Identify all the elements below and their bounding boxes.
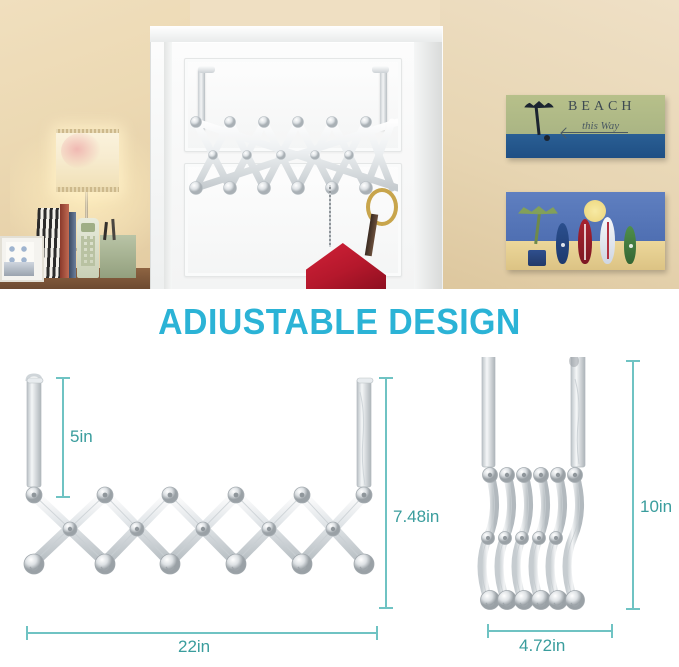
wall-art-surfboards (506, 192, 665, 270)
dim-cap-22in-left (26, 626, 28, 640)
over-door-strap-left (27, 375, 43, 487)
art-beach-subtext: this Way (582, 120, 619, 132)
surfboard-stripe (584, 224, 586, 260)
over-door-strap-left (482, 357, 495, 467)
over-door-strap-right (569, 357, 585, 467)
surfboard-icon (624, 226, 636, 264)
book-blue (69, 212, 76, 278)
top-pivots (26, 487, 372, 503)
palm-tree-fronds-icon (524, 101, 554, 117)
cordless-phone (77, 218, 99, 278)
accordion-hook-rack-photo (186, 110, 398, 200)
dim-label-4-72in: 4.72in (519, 636, 565, 656)
dim-label-22in: 22in (178, 637, 210, 657)
surfboard-dot (629, 244, 633, 248)
over-door-hook-right (372, 66, 389, 73)
dim-cap-5in-top (56, 377, 70, 379)
top-pivots (483, 468, 583, 483)
palm-tree-trunk-icon (534, 105, 540, 135)
dim-line-4-72in (487, 630, 613, 632)
dim-cap-7-48in-bottom (379, 607, 393, 609)
surfboard-dot (561, 243, 565, 247)
dim-cap-5in-bottom (56, 496, 70, 498)
dim-cap-10in-top (626, 360, 640, 362)
dim-cap-4-72in-right (611, 624, 613, 638)
hook-knobs (24, 554, 374, 574)
surfboard-stripe (607, 222, 609, 260)
art-left-arrow-icon (562, 132, 628, 133)
dim-line-5in (62, 377, 64, 498)
book-red (60, 204, 69, 278)
expanded-rack-diagram (0, 357, 400, 647)
dim-label-10in: 10in (640, 497, 672, 517)
frame-photo (4, 262, 34, 276)
collapsed-rack-diagram (455, 357, 645, 647)
dim-cap-7-48in-top (379, 377, 393, 379)
dim-cap-4-72in-left (487, 624, 489, 638)
dim-line-7-48in (385, 377, 387, 609)
lamp-shade-icon (56, 129, 119, 192)
dim-label-7-48in: 7.48in (393, 507, 439, 527)
surfboard-icon (556, 223, 569, 264)
beach-chair-icon (528, 250, 546, 266)
door-casing-right (414, 26, 442, 289)
door-casing-top (150, 26, 442, 42)
lamp-shade-trim (56, 129, 119, 133)
over-door-hook-left (198, 66, 215, 73)
dim-cap-22in-right (376, 626, 378, 640)
over-door-strap-right (357, 378, 373, 487)
desk-organizer (100, 235, 136, 278)
lifestyle-photo: BEACH this Way (0, 0, 679, 289)
dim-line-10in (632, 360, 634, 610)
dim-label-5in: 5in (70, 427, 93, 447)
picture-frame (0, 236, 44, 282)
surfboard-icon (600, 217, 615, 264)
infographic-root: BEACH this Way ADIUSTABLE DESIGN (0, 0, 679, 667)
art-beach-heading: BEACH (568, 99, 635, 115)
phone-keypad (81, 236, 95, 266)
dim-line-22in (26, 632, 378, 634)
hanging-chain (329, 185, 331, 247)
dim-cap-10in-bottom (626, 608, 640, 610)
page-title: ADIUSTABLE DESIGN (20, 301, 658, 343)
wall-art-beach-sign: BEACH this Way (506, 95, 665, 158)
palm-tree-trunk-icon (534, 214, 541, 244)
sun-icon (584, 200, 606, 222)
surfboard-icon (578, 219, 592, 264)
coconut-icon (544, 135, 550, 141)
diagram-section: ADIUSTABLE DESIGN (0, 289, 679, 667)
phone-screen (81, 223, 95, 232)
